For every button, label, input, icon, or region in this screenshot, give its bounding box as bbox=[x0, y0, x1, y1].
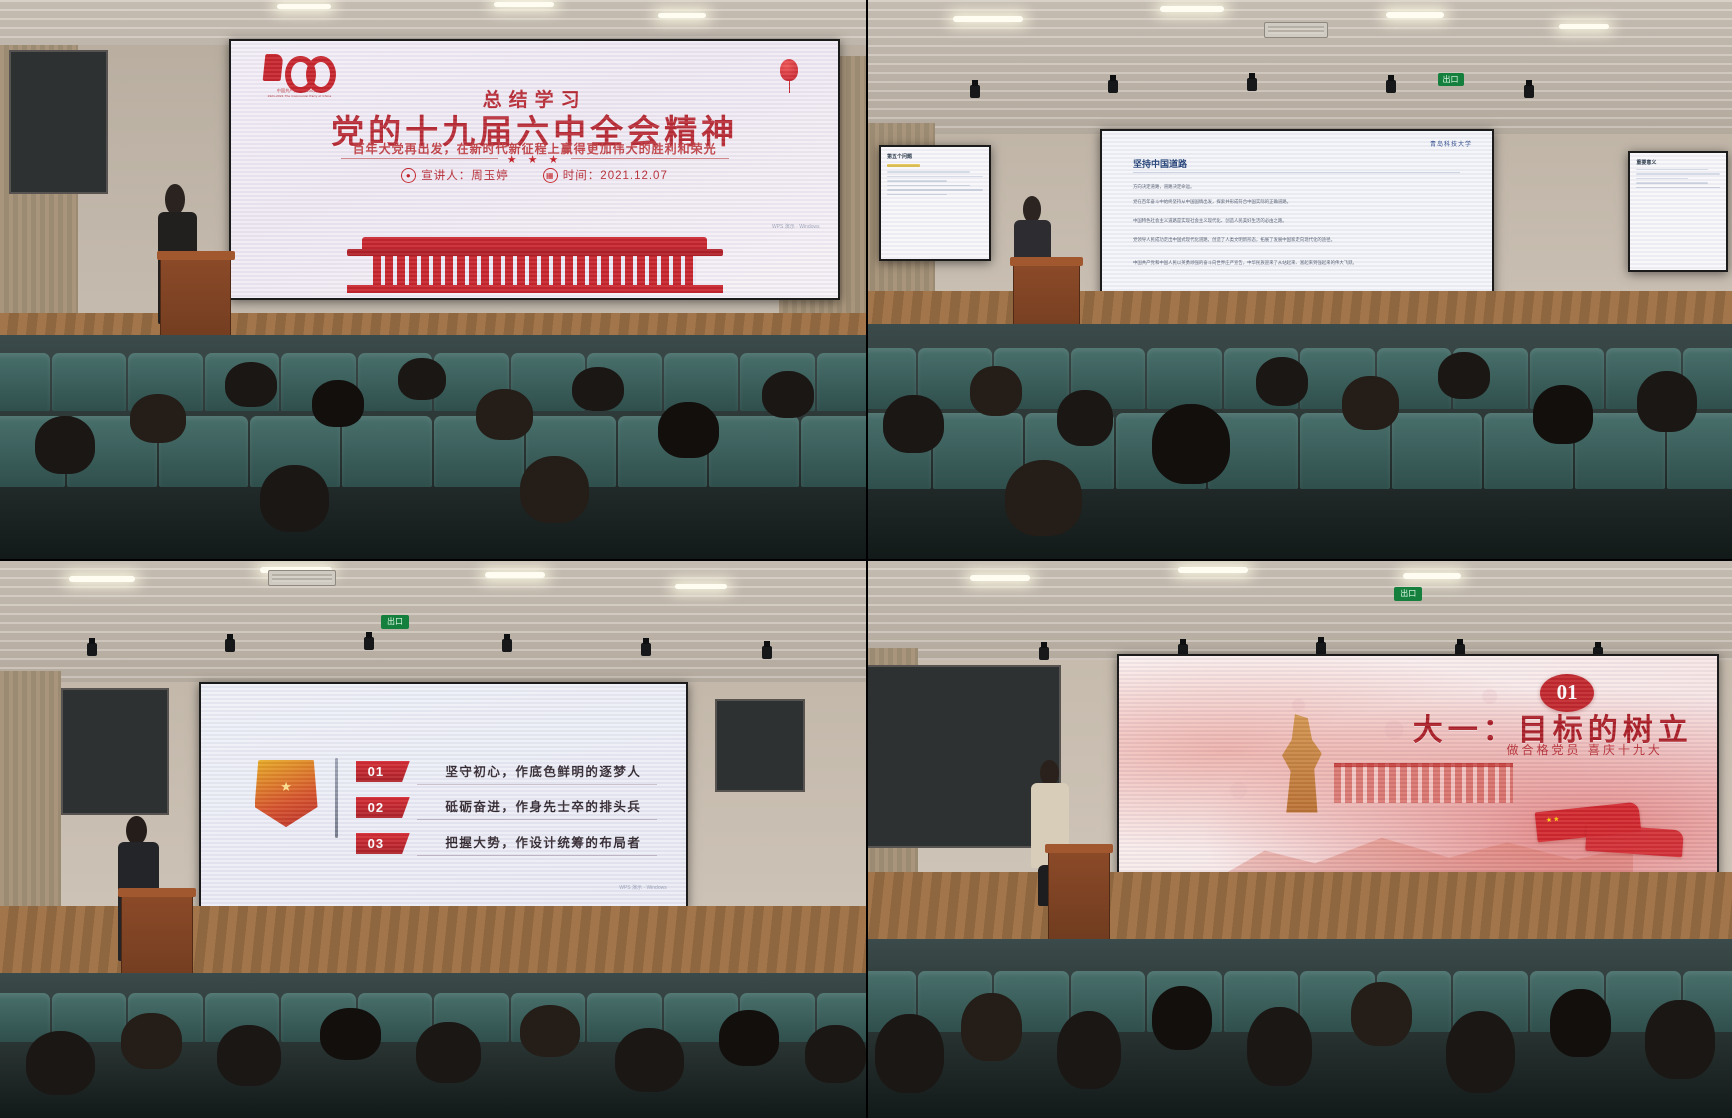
ceiling-light bbox=[675, 584, 727, 589]
lecture-hall-scene-4: 出口 01 大一：目标的树立 做合格党员 喜庆十九大 ★★ bbox=[866, 559, 1732, 1118]
presenter-head bbox=[126, 816, 147, 845]
ceiling-light bbox=[1178, 567, 1248, 573]
audience-head bbox=[1438, 352, 1490, 399]
audience-head bbox=[961, 993, 1022, 1061]
presenter-head bbox=[1040, 760, 1059, 786]
wps-watermark: WPS 演示 · Windows bbox=[772, 224, 820, 231]
audience-head bbox=[1637, 371, 1698, 432]
person-icon: ● bbox=[401, 168, 416, 183]
podium-top bbox=[1045, 844, 1113, 853]
ceiling-light bbox=[970, 575, 1030, 581]
ceiling-light bbox=[494, 2, 554, 7]
audience-head bbox=[875, 1014, 944, 1093]
item-number: 01 bbox=[356, 761, 395, 782]
audience-4 bbox=[866, 939, 1732, 1118]
audience-head bbox=[26, 1031, 95, 1095]
date-label: 时间：2021.12.07 bbox=[563, 167, 668, 183]
seat bbox=[52, 353, 127, 411]
audience-head bbox=[719, 1010, 780, 1065]
list-item: 01 坚守初心，作底色鲜明的逐梦人 bbox=[356, 758, 657, 786]
air-conditioner-vent bbox=[1264, 22, 1328, 38]
document-paragraph: 中国特色社会主义道路是实现社会主义现代化、创造人民美好生活的必由之路。 bbox=[1133, 217, 1460, 225]
great-wall-graphic bbox=[1334, 763, 1513, 803]
item-text: 把握大势，作设计统筹的布局者 bbox=[417, 830, 657, 856]
flag-stars-icon: ★★ bbox=[1546, 815, 1561, 824]
audience-head bbox=[1446, 1011, 1515, 1093]
item-text: 坚守初心，作底色鲜明的逐梦人 bbox=[417, 759, 657, 785]
podium-4[interactable] bbox=[1048, 850, 1111, 953]
tiananmen-illustration bbox=[347, 237, 723, 294]
air-conditioner-vent bbox=[268, 570, 336, 586]
ceiling-light bbox=[1386, 12, 1444, 18]
slide-1-content: 中国共产党成立100周年 1921-2021 The Communist Par… bbox=[231, 41, 837, 298]
side-doc-right: 重要意义 bbox=[1630, 153, 1725, 270]
seat bbox=[817, 353, 866, 411]
audience-head bbox=[320, 1008, 381, 1060]
audience-head bbox=[520, 1005, 581, 1057]
ceiling-light bbox=[485, 572, 545, 578]
track-spotlight bbox=[641, 643, 651, 656]
title-underline bbox=[1133, 172, 1460, 173]
podium-top bbox=[157, 251, 235, 260]
audience-head bbox=[1057, 390, 1113, 446]
ceiling-light bbox=[277, 4, 331, 9]
document-paragraph: 中国共产党和中国人民以英勇顽强的奋斗向世界庄严宣告，中华民族迎来了从站起来、富起… bbox=[1133, 259, 1460, 267]
university-brand: 青岛科技大学 bbox=[1430, 139, 1472, 148]
item-number: 02 bbox=[356, 797, 395, 818]
projection-screen-4: 01 大一：目标的树立 做合格党员 喜庆十九大 ★★ bbox=[1117, 654, 1719, 882]
audience-head bbox=[970, 366, 1022, 415]
audience-head bbox=[217, 1025, 282, 1086]
exit-sign-icon: 出口 bbox=[1438, 73, 1464, 86]
exit-sign-text: 出口 bbox=[1400, 588, 1416, 599]
audience-head bbox=[130, 394, 186, 443]
wps-watermark: WPS 演示 · Windows bbox=[619, 885, 667, 892]
audience-head bbox=[416, 1022, 481, 1083]
track-spotlight bbox=[502, 639, 512, 652]
youth-league-emblem-icon: ★ bbox=[255, 760, 318, 827]
projection-screen-2: 青岛科技大学 坚持中国道路 方向决定道路，道路决定命运。 党在百年奋斗中始终坚持… bbox=[1100, 129, 1494, 306]
presenter-head bbox=[1023, 196, 1042, 223]
audience-head bbox=[615, 1028, 684, 1092]
wall-blackboard bbox=[9, 50, 108, 194]
list-item: 03 把握大势，作设计统筹的布局者 bbox=[356, 829, 657, 857]
audience-head bbox=[260, 465, 329, 532]
red-balloon-decoration bbox=[780, 59, 798, 81]
track-spotlight bbox=[1316, 642, 1326, 655]
audience-head bbox=[883, 395, 944, 454]
presenter-head bbox=[165, 184, 185, 215]
audience-head bbox=[1550, 989, 1611, 1057]
audience-head bbox=[1256, 357, 1308, 406]
presenter-meta: ● 宣讲人：周玉婷 bbox=[401, 167, 509, 183]
document-paragraph: 方向决定道路，道路决定命运。 bbox=[1133, 183, 1460, 191]
track-spotlight bbox=[970, 85, 980, 98]
flag bbox=[1586, 823, 1684, 857]
presenter-label: 宣讲人：周玉婷 bbox=[421, 167, 509, 183]
audience-head bbox=[1645, 1000, 1714, 1079]
track-spotlight bbox=[1039, 647, 1049, 660]
audience-head bbox=[1342, 376, 1398, 430]
document-paragraph: 党在百年奋斗中始终坚持从中国国情出发，探索并形成符合中国实际的正确道路。 bbox=[1133, 198, 1460, 206]
projection-screen-1: 中国共产党成立100周年 1921-2021 The Communist Par… bbox=[229, 39, 839, 300]
exit-sign-text: 出口 bbox=[387, 616, 403, 627]
seat bbox=[1147, 348, 1222, 409]
audience-head bbox=[1247, 1007, 1312, 1086]
star-ornament: ★ ★ ★ bbox=[231, 153, 837, 166]
audience-head bbox=[476, 389, 532, 440]
audience-head bbox=[398, 358, 446, 400]
ceiling-light bbox=[658, 13, 706, 18]
lecture-hall-scene-1: 中国共产党成立100周年 1921-2021 The Communist Par… bbox=[0, 0, 866, 559]
audience-head bbox=[658, 402, 719, 458]
audience-2 bbox=[866, 324, 1732, 559]
exit-sign-icon: 出口 bbox=[1394, 587, 1422, 601]
national-flags-graphic: ★★ bbox=[1525, 790, 1704, 866]
document-title: 坚持中国道路 bbox=[1133, 157, 1187, 170]
photo-grid-composite: 中国共产党成立100周年 1921-2021 The Communist Par… bbox=[0, 0, 1732, 1118]
track-spotlight bbox=[1524, 85, 1534, 98]
date-meta: ▦ 时间：2021.12.07 bbox=[543, 167, 668, 183]
list-item: 02 砥砺奋进，作身先士卒的排头兵 bbox=[356, 794, 657, 822]
side-doc-title: 重要意义 bbox=[1636, 159, 1719, 166]
panel-2-document-slide-wide-shot: 出口 第五个问题 青岛科技大学 坚持中国道路 bbox=[866, 0, 1732, 559]
audience-head bbox=[572, 367, 624, 412]
slide-3-content: ★ 01 坚守初心，作底色鲜明的逐梦人 02 砥砺奋进，作身先士卒的排头兵 03… bbox=[201, 684, 686, 908]
seat bbox=[342, 416, 432, 488]
wood-wall-panel bbox=[0, 671, 61, 939]
audience-head bbox=[35, 416, 96, 474]
slide-meta-row: ● 宣讲人：周玉婷 ▦ 时间：2021.12.07 bbox=[231, 167, 837, 183]
ceiling-light bbox=[1160, 6, 1224, 12]
panel-1-opening-title-slide: 中国共产党成立100周年 1921-2021 The Communist Par… bbox=[0, 0, 866, 559]
podium-top bbox=[118, 888, 196, 897]
audience-head bbox=[1152, 404, 1230, 484]
left-side-screen: 第五个问题 bbox=[879, 145, 991, 261]
lecture-hall-scene-2: 出口 第五个问题 青岛科技大学 坚持中国道路 bbox=[866, 0, 1732, 559]
ceiling-light bbox=[1559, 24, 1609, 29]
track-spotlight bbox=[762, 646, 772, 659]
audience-head bbox=[1351, 982, 1412, 1046]
side-doc-left: 第五个问题 bbox=[881, 147, 989, 259]
ceiling-light bbox=[953, 16, 1023, 22]
seat bbox=[664, 353, 739, 411]
track-spotlight bbox=[87, 643, 97, 656]
lecture-hall-scene-3: 出口 ★ 01 坚守初心，作底色鲜明的逐梦人 02 bbox=[0, 559, 866, 1118]
panel-3-three-point-list-slide: 出口 ★ 01 坚守初心，作底色鲜明的逐梦人 02 bbox=[0, 559, 866, 1118]
cpc-emblem-icon bbox=[264, 51, 334, 86]
track-spotlight bbox=[364, 637, 374, 650]
seat bbox=[709, 416, 799, 488]
exit-sign-text: 出口 bbox=[1443, 74, 1459, 85]
document-paragraph: 党领导人民成功走出中国式现代化道路，创造了人类文明新形态，拓展了发展中国家走向现… bbox=[1133, 236, 1460, 244]
audience-1 bbox=[0, 335, 866, 559]
projection-screen-3: ★ 01 坚守初心，作底色鲜明的逐梦人 02 砥砺奋进，作身先士卒的排头兵 03… bbox=[199, 682, 688, 910]
panel-4-red-poster-slide: 出口 01 大一：目标的树立 做合格党员 喜庆十九大 ★★ bbox=[866, 559, 1732, 1118]
audience-head bbox=[762, 371, 814, 418]
audience-head bbox=[225, 362, 277, 407]
audience-3 bbox=[0, 973, 866, 1118]
audience-head bbox=[1005, 460, 1083, 535]
audience-head bbox=[312, 380, 364, 427]
track-spotlight bbox=[1247, 78, 1257, 91]
audience-head bbox=[1057, 1011, 1122, 1090]
ceiling-light bbox=[69, 576, 135, 582]
track-spotlight bbox=[1386, 80, 1396, 93]
audience-head bbox=[1152, 986, 1213, 1050]
vertical-divider bbox=[335, 758, 338, 838]
ceiling-light bbox=[1403, 573, 1461, 579]
item-number: 03 bbox=[356, 833, 395, 854]
seat bbox=[0, 353, 50, 411]
seat bbox=[801, 416, 866, 488]
slide-4-content: 01 大一：目标的树立 做合格党员 喜庆十九大 ★★ bbox=[1119, 656, 1717, 880]
slide-2-content: 青岛科技大学 坚持中国道路 方向决定道路，道路决定命运。 党在百年奋斗中始终坚持… bbox=[1102, 131, 1492, 304]
audience-head bbox=[805, 1025, 866, 1083]
wall-blackboard bbox=[61, 688, 169, 815]
audience-head bbox=[520, 456, 589, 523]
track-spotlight bbox=[225, 639, 235, 652]
grid-divider-horizontal bbox=[0, 559, 1732, 561]
wall-display-panel bbox=[715, 699, 806, 792]
exit-sign-icon: 出口 bbox=[381, 615, 409, 629]
item-text: 砥砺奋进，作身先士卒的排头兵 bbox=[417, 794, 657, 820]
audience-head bbox=[1533, 385, 1594, 444]
podium-top bbox=[1010, 257, 1083, 266]
seat-row bbox=[866, 413, 1732, 488]
side-doc-title: 第五个问题 bbox=[887, 153, 983, 160]
calendar-icon: ▦ bbox=[543, 168, 558, 183]
seat bbox=[1392, 413, 1482, 488]
audience-head bbox=[121, 1013, 182, 1068]
poster-subtitle: 做合格党员 喜庆十九大 bbox=[1507, 741, 1663, 758]
right-side-screen: 重要意义 bbox=[1628, 151, 1727, 272]
track-spotlight bbox=[1108, 80, 1118, 93]
